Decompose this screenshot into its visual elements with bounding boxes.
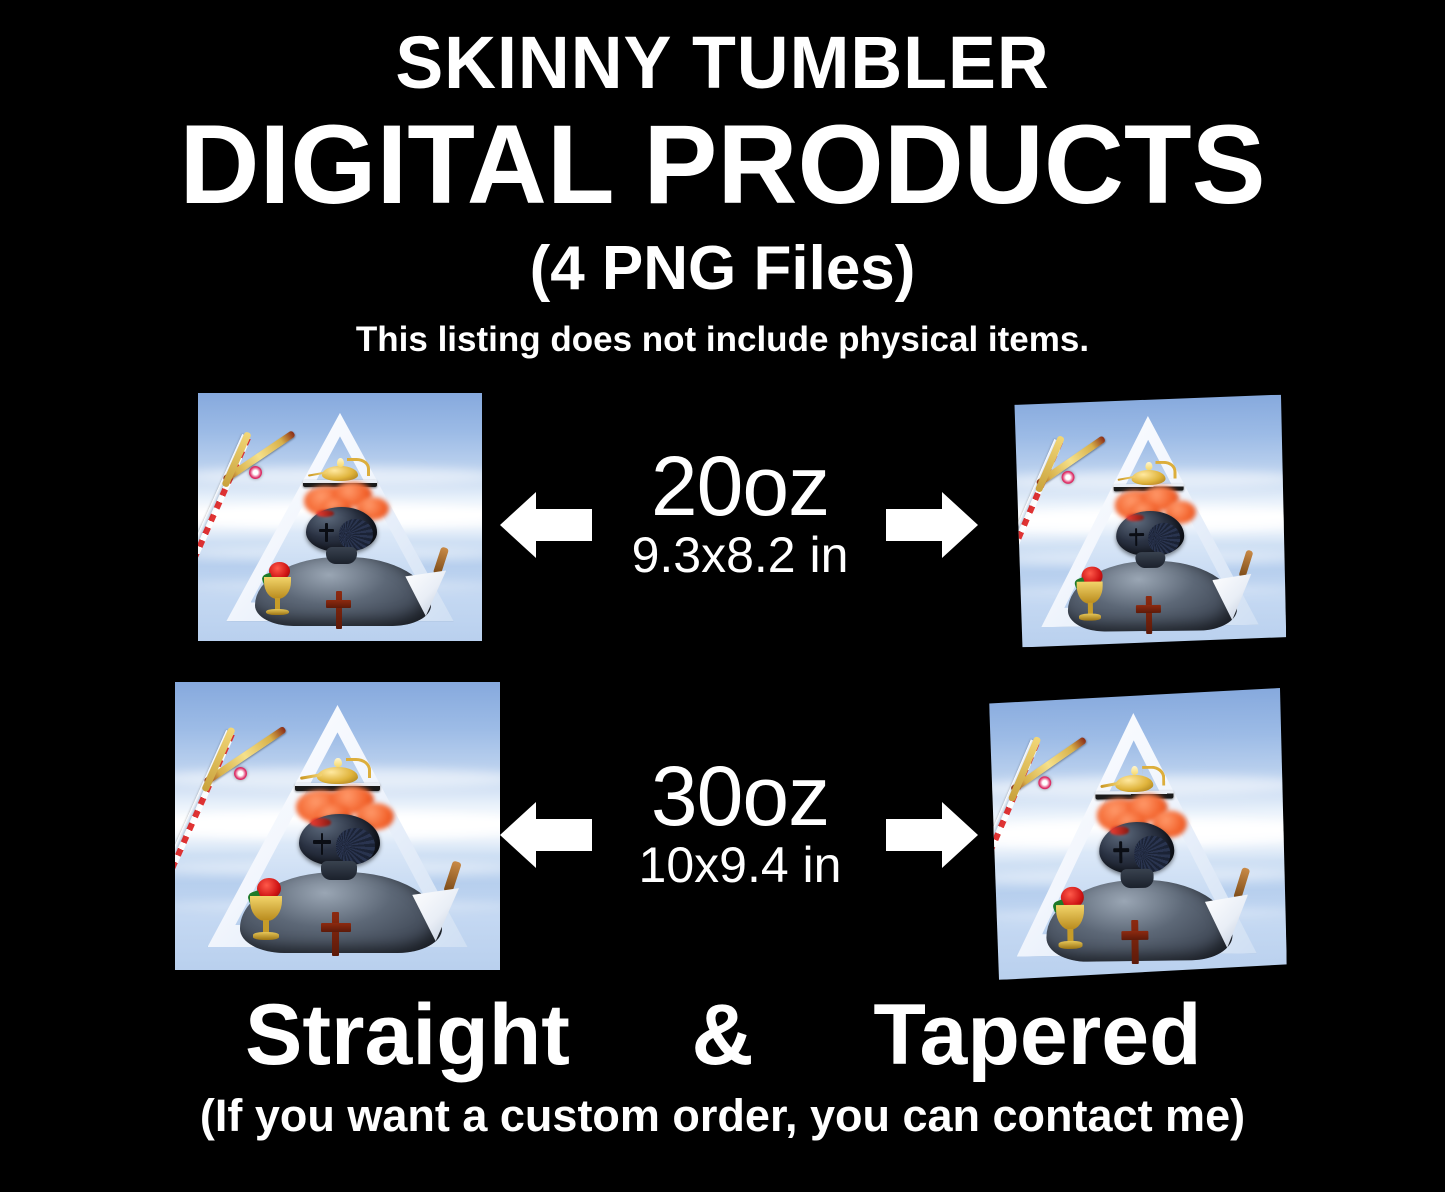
header-block: SKINNY TUMBLER DIGITAL PRODUCTS (4 PNG F…: [0, 0, 1445, 360]
trowel-icon: [405, 547, 448, 616]
thumbnail-straight-20oz[interactable]: [198, 393, 482, 641]
chalice-with-rose-icon: [1073, 566, 1106, 621]
chalice-with-rose-icon: [260, 562, 294, 617]
artwork-canvas: [175, 682, 500, 970]
size-dimensions: 9.3x8.2 in: [600, 529, 880, 582]
custom-order-note: (If you want a custom order, you can con…: [0, 1092, 1445, 1139]
red-cross-icon: [1136, 596, 1161, 634]
label-ampersand: &: [623, 992, 823, 1078]
trowel-icon: [1212, 550, 1254, 620]
red-cross-icon: [326, 591, 352, 628]
knight-helmet-icon: [299, 814, 380, 877]
title-digital-products: DIGITAL PRODUCTS: [7, 108, 1438, 222]
label-straight: Straight: [193, 992, 623, 1078]
subtitle-file-count: (4 PNG Files): [0, 236, 1445, 301]
thumbnail-tapered-30oz[interactable]: [983, 688, 1287, 980]
size-value: 30oz: [600, 755, 880, 837]
style-labels-row: Straight & Tapered: [0, 992, 1445, 1078]
footer-block: Straight & Tapered (If you want a custom…: [0, 992, 1445, 1139]
label-tapered: Tapered: [823, 992, 1253, 1078]
disclaimer-text: This listing does not include physical i…: [0, 321, 1445, 360]
trowel-icon: [1204, 867, 1250, 948]
size-label-20oz: 20oz 9.3x8.2 in: [600, 445, 880, 582]
knight-helmet-icon: [1099, 822, 1175, 886]
title-skinny-tumbler: SKINNY TUMBLER: [22, 26, 1424, 100]
size-value: 20oz: [600, 445, 880, 527]
arrow-right-icon-30oz: [886, 802, 978, 868]
artwork-canvas: [198, 393, 482, 641]
red-cross-icon: [1121, 920, 1149, 964]
artwork-canvas: [1012, 395, 1287, 648]
chalice-with-rose-icon: [247, 878, 286, 941]
arrow-left-icon-20oz: [500, 492, 592, 558]
arrow-left-icon-30oz: [500, 802, 592, 868]
size-label-30oz: 30oz 10x9.4 in: [600, 755, 880, 892]
size-dimensions: 10x9.4 in: [600, 839, 880, 892]
knight-helmet-icon: [306, 507, 377, 562]
knight-helmet-icon: [1116, 511, 1185, 567]
thumbnail-tapered-20oz[interactable]: [1012, 395, 1287, 648]
red-cross-icon: [321, 912, 350, 955]
listing-image: SKINNY TUMBLER DIGITAL PRODUCTS (4 PNG F…: [0, 0, 1445, 1192]
trowel-icon: [412, 861, 461, 942]
arrow-right-icon-20oz: [886, 492, 978, 558]
thumbnail-straight-30oz[interactable]: [175, 682, 500, 970]
artwork-canvas: [983, 688, 1287, 980]
chalice-with-rose-icon: [1052, 886, 1089, 950]
